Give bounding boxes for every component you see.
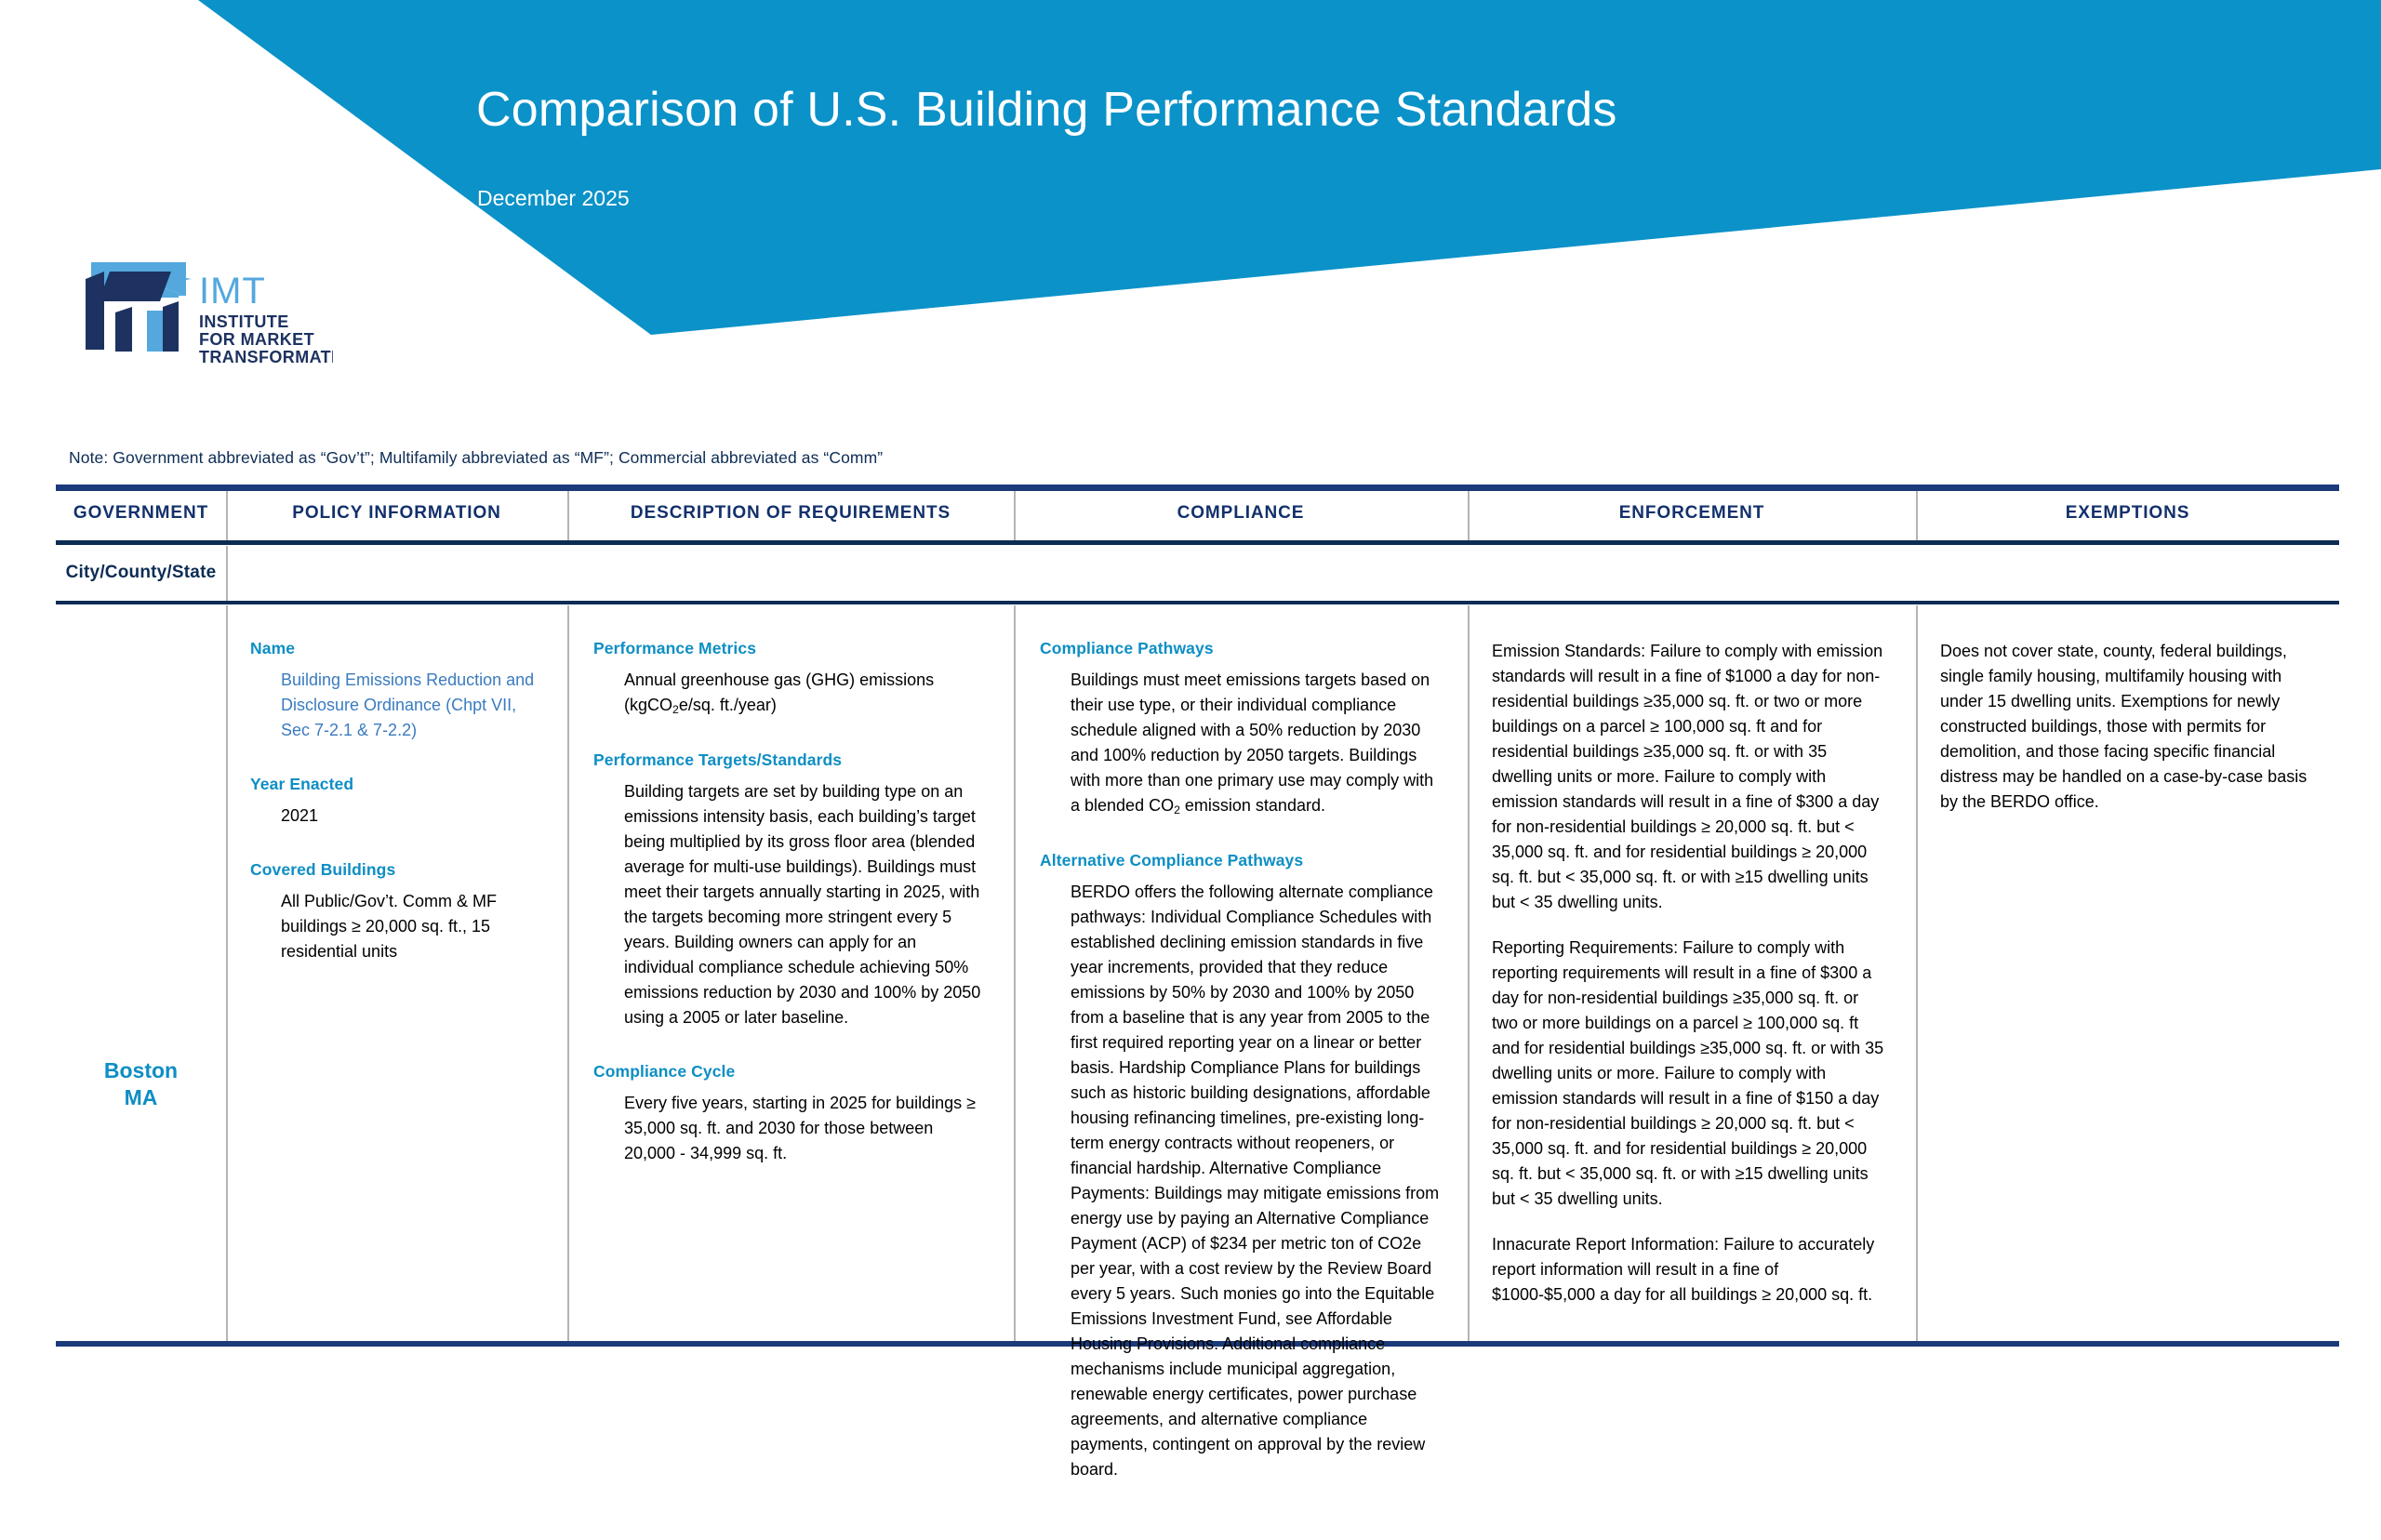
enforcement-paragraph: Innacurate Report Information: Failure t… — [1492, 1232, 1884, 1308]
metrics-text-a: Annual greenhouse gas (GHG) emissions (k… — [624, 670, 934, 714]
alternative-compliance-pathways-label: Alternative Compliance Pathways — [1040, 851, 1440, 870]
column-header-exemptions: EXEMPTIONS — [1916, 503, 2339, 535]
imt-logo-mark: IMT INSTITUTE FOR MARKET TRANSFORMATION — [82, 259, 333, 365]
alternative-compliance-pathways-value: BERDO offers the following alternate com… — [1071, 880, 1440, 1482]
performance-metrics-label: Performance Metrics — [593, 639, 984, 658]
svg-text:INSTITUTE: INSTITUTE — [199, 312, 289, 331]
document-page: Comparison of U.S. Building Performance … — [0, 0, 2381, 1540]
column-header-description-of-requirements: DESCRIPTION OF REQUIREMENTS — [567, 503, 1014, 535]
policy-name-value: Building Emissions Reduction and Disclos… — [281, 668, 539, 743]
comparison-table: GOVERNMENT POLICY INFORMATION DESCRIPTIO… — [56, 485, 2339, 1345]
policy-covered-label: Covered Buildings — [250, 860, 539, 880]
pathways-text-a: Buildings must meet emissions targets ba… — [1071, 670, 1433, 815]
performance-targets-value: Building targets are set by building typ… — [624, 779, 984, 1030]
page-date: December 2025 — [477, 186, 630, 211]
column-header-compliance: COMPLIANCE — [1014, 503, 1468, 535]
table-top-rule — [56, 485, 2339, 491]
abbreviation-note: Note: Government abbreviated as “Gov’t”;… — [69, 448, 883, 468]
header-bottom-rule — [56, 540, 2339, 545]
compliance-cycle-label: Compliance Cycle — [593, 1062, 984, 1082]
exemptions-cell: Does not cover state, county, federal bu… — [1916, 605, 2339, 815]
performance-metrics-value: Annual greenhouse gas (GHG) emissions (k… — [624, 668, 984, 719]
subheader-bottom-rule — [56, 601, 2339, 604]
enforcement-paragraph: Reporting Requirements: Failure to compl… — [1492, 936, 1884, 1212]
column-header-enforcement: ENFORCEMENT — [1468, 503, 1916, 535]
government-state: MA — [125, 1085, 158, 1109]
government-city: Boston — [104, 1058, 178, 1082]
header-banner: Comparison of U.S. Building Performance … — [0, 0, 2381, 353]
column-header-policy-information: POLICY INFORMATION — [226, 503, 567, 535]
policy-name-label: Name — [250, 639, 539, 658]
policy-year-label: Year Enacted — [250, 775, 539, 794]
subheader-city-county-state: City/County/State — [56, 563, 226, 591]
description-of-requirements-cell: Performance Metrics Annual greenhouse ga… — [567, 605, 1014, 1198]
policy-information-cell: Name Building Emissions Reduction and Di… — [226, 605, 567, 996]
column-divider — [226, 546, 228, 601]
enforcement-paragraph: Emission Standards: Failure to comply wi… — [1492, 639, 1884, 915]
column-header-government: GOVERNMENT — [56, 503, 226, 535]
pathways-text-b: emission standard. — [1180, 796, 1325, 815]
svg-text:FOR MARKET: FOR MARKET — [199, 330, 314, 349]
performance-targets-label: Performance Targets/Standards — [593, 750, 984, 770]
policy-covered-value: All Public/Gov’t. Comm & MF buildings ≥ … — [281, 889, 539, 964]
imt-logo: IMT INSTITUTE FOR MARKET TRANSFORMATION — [82, 259, 333, 365]
compliance-cycle-value: Every five years, starting in 2025 for b… — [624, 1091, 984, 1166]
compliance-cell: Compliance Pathways Buildings must meet … — [1014, 605, 1468, 1514]
metrics-text-b: e/sq. ft./year) — [679, 696, 777, 714]
pathways-subscript: 2 — [1174, 803, 1180, 816]
policy-year-value: 2021 — [281, 803, 539, 829]
banner-shape — [0, 0, 2381, 353]
page-title: Comparison of U.S. Building Performance … — [476, 82, 1617, 138]
government-cell: Boston MA — [56, 1057, 226, 1112]
svg-text:IMT: IMT — [199, 271, 266, 312]
metrics-subscript: 2 — [672, 703, 679, 716]
exemptions-text: Does not cover state, county, federal bu… — [1940, 639, 2311, 815]
compliance-pathways-label: Compliance Pathways — [1040, 639, 1440, 658]
svg-text:TRANSFORMATION: TRANSFORMATION — [199, 348, 333, 365]
compliance-pathways-value: Buildings must meet emissions targets ba… — [1071, 668, 1440, 819]
enforcement-cell: Emission Standards: Failure to comply wi… — [1468, 605, 1916, 1308]
